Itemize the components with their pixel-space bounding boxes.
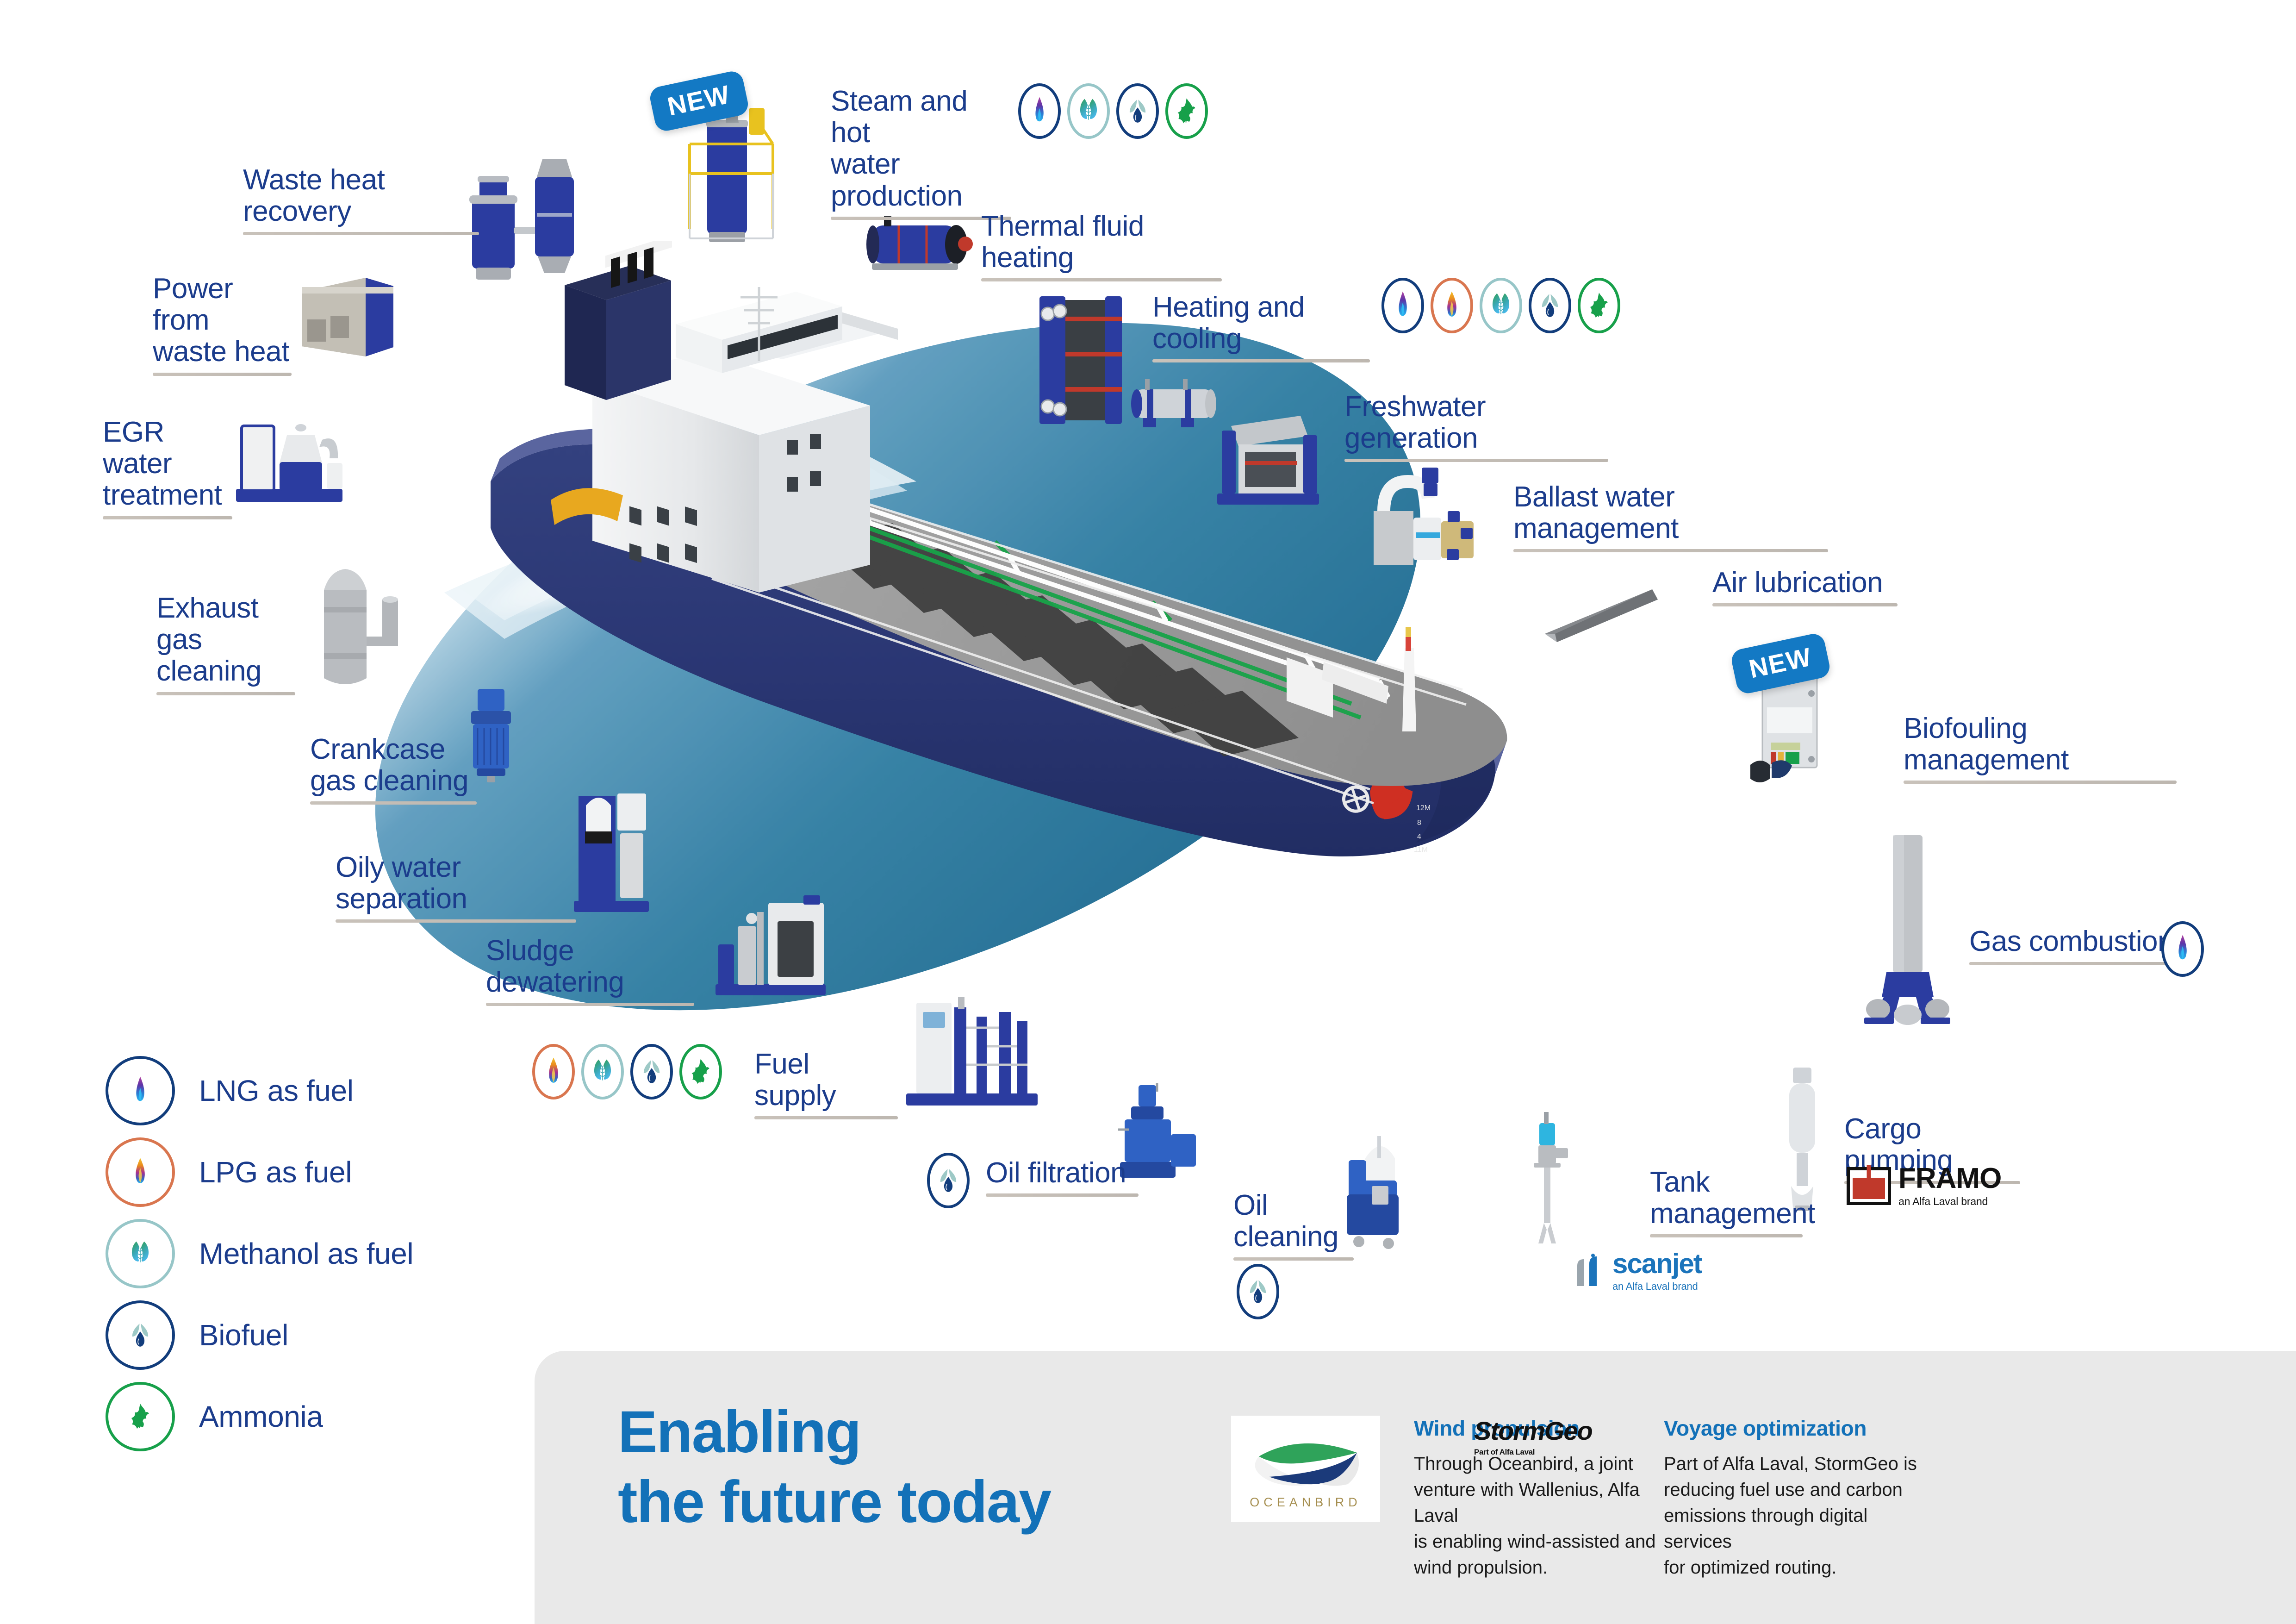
callout-label: Air lubrication (1712, 567, 1898, 599)
callout-egr-water-treatment: EGR water treatment (103, 417, 232, 519)
callout-power-from-waste-heat: Power from waste heat (153, 273, 292, 376)
equipment-freshwater-generator (1213, 407, 1324, 509)
callout-label: EGR water treatment (103, 417, 232, 512)
stormgeo-wordmark: StormGeo (1474, 1416, 1613, 1446)
callout-label: Power from waste heat (153, 273, 292, 368)
callout-thermal-fluid-heating: Thermal fluid heating (981, 211, 1222, 281)
lpg-flame-icon (106, 1137, 175, 1207)
footer-block-voyage-optimization: Voyage optimization Part of Alfa Laval, … (1664, 1416, 1923, 1580)
equipment-egr-water-treatment (231, 407, 347, 509)
lng-flame-icon (1381, 278, 1424, 333)
equipment-thermal-fluid-heater (865, 215, 981, 275)
callout-label: Fuel supply (754, 1049, 898, 1112)
callout-heating-and-cooling: Heating and cooling (1152, 292, 1370, 362)
callout-crankcase-gas-cleaning: Crankcase gas cleaning (310, 734, 477, 805)
equipment-fuel-supply (902, 995, 1041, 1111)
callout-oily-water-separation: Oily water separation (336, 852, 576, 923)
callout-oil-filtration: Oil filtration (986, 1157, 1139, 1197)
footer-panel: Enabling the future today OCEANBIRD Wind… (535, 1351, 2296, 1624)
legend-item-lng: LNG as fuel (106, 1050, 413, 1131)
callout-rule (1513, 549, 1828, 552)
biofuel-drop-icon (1529, 278, 1571, 333)
ammonia-leaf-icon (1578, 278, 1620, 333)
callout-sludge-dewatering: Sludge dewatering (486, 935, 694, 1006)
footer-block-body: Part of Alfa Laval, StormGeo is reducing… (1664, 1451, 1923, 1580)
callout-rule (1712, 603, 1898, 606)
svg-text:12M: 12M (1416, 804, 1431, 812)
footer-block-body: Through Oceanbird, a joint venture with … (1414, 1451, 1673, 1580)
biofuel-drop-icon (630, 1044, 673, 1099)
footer-title: Enabling the future today (618, 1397, 1051, 1537)
callout-rule (1969, 962, 2178, 965)
lng-flame-icon (2161, 921, 2204, 977)
lng-flame-icon (106, 1056, 175, 1125)
lpg-flame-icon (1431, 278, 1473, 333)
equipment-gas-combustion-unit (1860, 833, 1953, 1028)
callout-rule (981, 278, 1222, 281)
icons-gas-combustion (2161, 921, 2204, 977)
callout-oil-cleaning: Oil cleaning (1233, 1190, 1354, 1261)
icons-steam-and-hot-water (1018, 83, 1208, 139)
callout-label: Sludge dewatering (486, 935, 694, 998)
framo-name: FRAMO (1898, 1164, 2001, 1193)
legend-label: Methanol as fuel (199, 1237, 413, 1271)
callout-rule (1344, 459, 1608, 462)
callout-biofouling-management: Biofouling management (1904, 713, 2177, 784)
callout-freshwater-generation: Freshwater generation (1344, 391, 1608, 462)
callout-steam-and-hot-water: Steam and hot water production (831, 86, 1011, 220)
biofuel-drop-icon (1116, 83, 1159, 139)
callout-label: Oily water separation (336, 852, 576, 915)
equipment-sludge-dewatering (713, 893, 828, 1000)
equipment-exhaust-gas-cleaning (305, 562, 407, 701)
equipment-air-lubrication-fin (1537, 586, 1661, 650)
legend-item-biofuel: Biofuel (106, 1294, 413, 1376)
callout-label: Oil cleaning (1233, 1190, 1354, 1253)
scanjet-tagline: an Alfa Laval brand (1612, 1280, 1702, 1293)
callout-rule (1233, 1257, 1354, 1261)
methanol-leafdrop-icon (106, 1219, 175, 1288)
callout-label: Gas combustion (1969, 926, 2178, 957)
callout-rule (486, 1003, 694, 1006)
fuel-legend: LNG as fuel LPG as fuel Methanol as fuel (106, 1050, 413, 1457)
callout-rule (1904, 781, 2177, 784)
equipment-tank-management (1518, 1111, 1574, 1250)
oceanbird-wordmark: OCEANBIRD (1250, 1495, 1362, 1509)
framo-logo: FRAMO an Alfa Laval brand (1847, 1164, 2001, 1208)
icons-oil-cleaning (1237, 1264, 1279, 1319)
biofuel-drop-icon (927, 1153, 970, 1208)
callout-rule (336, 919, 576, 923)
callout-label: Freshwater generation (1344, 391, 1608, 454)
equipment-power-from-waste-heat (296, 273, 398, 366)
legend-item-methanol: Methanol as fuel (106, 1213, 413, 1294)
methanol-leafdrop-icon (1067, 83, 1110, 139)
footer-block-heading: Voyage optimization (1664, 1416, 1923, 1441)
callout-gas-combustion: Gas combustion (1969, 926, 2178, 965)
callout-label: Waste heat recovery (243, 164, 479, 227)
lng-flame-icon (1018, 83, 1061, 139)
methanol-leafdrop-icon (1480, 278, 1522, 333)
callout-label: Ballast water management (1513, 481, 1828, 544)
callout-rule (153, 373, 292, 376)
equipment-shell-tube-cooler (1129, 377, 1222, 433)
svg-text:8: 8 (1417, 819, 1421, 827)
icons-heating-and-cooling (1381, 278, 1620, 333)
callout-rule (1650, 1234, 1803, 1237)
callout-fuel-supply: Fuel supply (754, 1049, 898, 1119)
callout-label: Steam and hot water production (831, 86, 1011, 212)
equipment-oily-water-separation (569, 787, 653, 917)
methanol-leafdrop-icon (581, 1044, 624, 1099)
bow-mast (1402, 627, 1416, 731)
stormgeo-tagline: Part of Alfa Laval (1474, 1448, 1613, 1457)
svg-text:4: 4 (1417, 833, 1421, 841)
callout-label: Thermal fluid heating (981, 211, 1222, 274)
legend-item-ammonia: Ammonia (106, 1376, 413, 1457)
callout-rule (754, 1116, 898, 1119)
callout-label: Crankcase gas cleaning (310, 734, 477, 797)
scanjet-logo: scanjet an Alfa Laval brand (1574, 1250, 1702, 1293)
callout-waste-heat-recovery: Waste heat recovery (243, 164, 479, 235)
callout-rule (986, 1193, 1139, 1197)
legend-label: LPG as fuel (199, 1155, 352, 1189)
callout-ballast-water-management: Ballast water management (1513, 481, 1828, 552)
biofuel-drop-icon (1237, 1264, 1279, 1319)
ammonia-leaf-icon (1165, 83, 1208, 139)
framo-mark (1847, 1167, 1891, 1205)
stormgeo-logo: StormGeo Part of Alfa Laval (1474, 1416, 1613, 1457)
legend-label: Biofuel (199, 1318, 288, 1352)
callout-tank-management: Tank management (1650, 1167, 1803, 1237)
callout-exhaust-gas-cleaning: Exhaust gas cleaning (156, 593, 295, 695)
ammonia-leaf-icon (679, 1044, 722, 1099)
legend-label: LNG as fuel (199, 1074, 354, 1108)
lpg-flame-icon (532, 1044, 575, 1099)
equipment-ballast-water-system (1365, 463, 1481, 569)
legend-item-lpg: LPG as fuel (106, 1131, 413, 1213)
framo-tagline: an Alfa Laval brand (1898, 1195, 2001, 1208)
legend-label: Ammonia (199, 1399, 323, 1434)
callout-rule (310, 801, 477, 805)
callout-label: Biofouling management (1904, 713, 2177, 776)
callout-rule (1152, 359, 1370, 362)
icons-fuel-supply (532, 1044, 722, 1099)
oceanbird-logo: OCEANBIRD (1231, 1416, 1380, 1522)
callout-label: Heating and cooling (1152, 292, 1370, 355)
equipment-waste-heat-recovery (467, 157, 620, 296)
svg-text:11M: 11M (1414, 846, 1428, 854)
callout-label: Tank management (1650, 1167, 1803, 1230)
callout-rule (243, 232, 479, 235)
icons-oil-filtration (927, 1153, 970, 1208)
scanjet-mark (1574, 1254, 1606, 1289)
scanjet-name: scanjet (1612, 1250, 1702, 1278)
callout-air-lubrication: Air lubrication (1712, 567, 1898, 606)
callout-rule (103, 516, 232, 519)
ammonia-leaf-icon (106, 1382, 175, 1451)
biofuel-drop-icon (106, 1300, 175, 1370)
callout-label: Oil filtration (986, 1157, 1139, 1189)
callout-label: Exhaust gas cleaning (156, 593, 295, 687)
callout-rule (156, 692, 295, 695)
